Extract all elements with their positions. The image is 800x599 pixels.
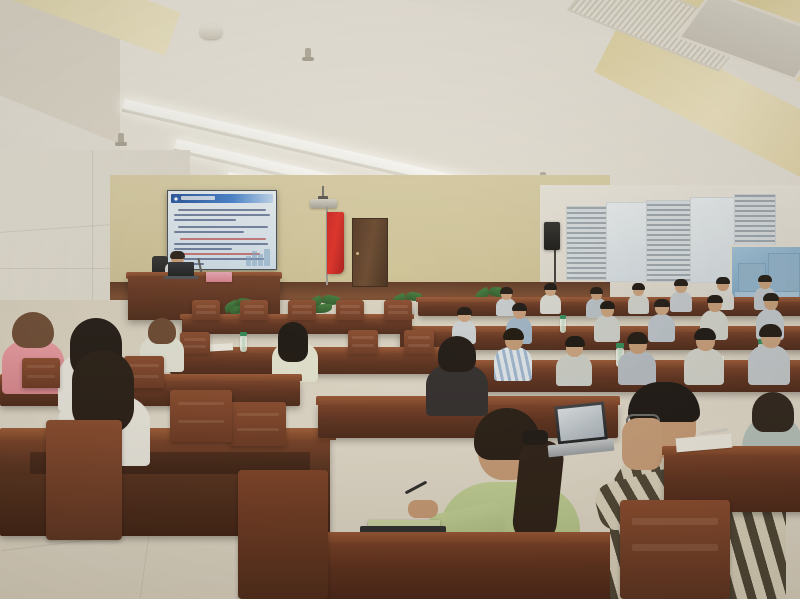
attendee-blue-stripe [494,330,532,378]
water-bottle-cap [560,315,566,319]
chair[interactable] [192,300,220,320]
attendee [556,338,592,384]
attendee [540,284,561,312]
attendee-cream-blouse [272,322,318,378]
smoke-detector-icon [200,24,222,39]
window-blind[interactable] [646,200,692,282]
hair-clip-icon [522,430,548,445]
door-knob-icon[interactable] [356,252,359,255]
chair[interactable] [348,330,378,354]
presenter-laptop[interactable] [168,262,194,277]
water-bottle[interactable] [560,318,566,333]
chair[interactable] [336,300,364,320]
attendee [594,302,620,340]
slide-header-text [181,196,215,200]
chair[interactable] [180,332,210,354]
chair[interactable] [384,300,412,320]
water-bottle-cap [240,332,247,336]
national-flag-icon [327,212,344,274]
hand [408,500,438,518]
slide-building-graphic [246,248,272,266]
sprinkler-icon [118,133,124,145]
projector-icon [310,199,337,208]
chair[interactable] [22,358,60,388]
window-blind[interactable] [734,194,776,248]
desk-row-front-center [288,540,648,599]
name-plate [206,272,232,282]
water-bottle[interactable] [240,336,247,352]
presenter-hair [170,251,185,259]
slide-logo-icon [173,196,179,202]
window-panel [606,202,648,282]
hand [622,418,662,470]
attendee [684,330,724,382]
chair[interactable] [238,470,328,599]
window-blind[interactable] [566,206,608,280]
chair[interactable] [46,420,122,540]
chair[interactable] [230,402,286,446]
meeting-room-photo [0,0,800,599]
presenter-laptop-base [164,276,198,279]
sprinkler-icon [305,48,311,60]
attendee [748,326,790,382]
chair[interactable] [170,390,232,442]
chair[interactable] [288,300,316,320]
chair[interactable] [240,300,268,320]
attendee [628,284,649,312]
attendee-dark-top [426,336,488,410]
chair[interactable] [620,500,730,599]
speaker-icon [544,222,560,250]
attendee [618,334,656,382]
